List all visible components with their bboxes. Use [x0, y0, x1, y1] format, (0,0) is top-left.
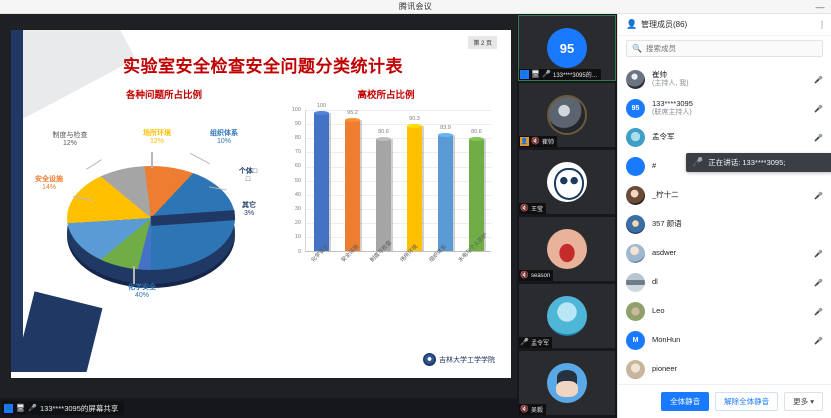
bar-series: 100 95.2 80.6	[306, 109, 492, 251]
video-tile-name: 133****3095的…	[553, 70, 598, 79]
search-row: 🔍	[618, 36, 831, 63]
mic-muted-icon: 🔇	[520, 271, 529, 280]
video-tile-infobar: 🔇 吴毅	[519, 404, 546, 415]
list-item[interactable]: 357 颜语	[618, 210, 831, 239]
member-name: 357 颜语	[652, 220, 682, 229]
screen-share-icon: 🖥	[16, 404, 25, 413]
avatar	[626, 302, 645, 321]
member-name: _柠十二	[652, 191, 679, 200]
member-icons: 🎤	[814, 76, 823, 84]
avatar	[626, 186, 645, 205]
member-name: pioneer	[652, 365, 677, 374]
window-titlebar: 腾讯会议 —	[0, 0, 831, 14]
pie-leader-1	[151, 152, 153, 168]
bar-rect	[376, 139, 391, 251]
mic-muted-icon: 🔇	[531, 137, 540, 146]
bar-rect	[438, 135, 453, 251]
mic-muted-icon: 🔇	[520, 405, 529, 414]
avatar	[547, 363, 587, 403]
mic-icon[interactable]: 🎤	[814, 134, 823, 142]
y-tick: 40	[295, 192, 301, 198]
bar-chart-x-axis: 化学安全 安全设施 制度与检查 场所环境 组织体系 水电与个人防护	[305, 254, 505, 314]
unmute-all-button[interactable]: 解除全体静音	[715, 392, 778, 411]
mic-icon: 🎤	[542, 70, 551, 79]
avatar	[547, 95, 587, 135]
pie-label-huaxueanquan: 化学安全 40%	[107, 284, 177, 300]
tencent-meeting-window: 腾讯会议 — 第 2 页 实验室安全检查安全问题分类统计表 各种问题所占比例 高…	[0, 0, 831, 418]
pie-chart: 场所环境 12% 组织体系 10% 个体□□ 其它 3% 制度与检查 12%	[33, 106, 283, 368]
person-icon: 👤	[4, 404, 13, 413]
mic-icon[interactable]: 🎤	[814, 105, 823, 113]
member-name: 133****3095	[652, 100, 693, 109]
mic-icon[interactable]: 🎤	[814, 279, 823, 287]
member-list[interactable]: 崔帅 (主持人, 我) 🎤 95 133****3095 (联席主持人) 🎤	[618, 63, 831, 384]
screen-share-chip: 👤 🖥 🎤 133****3095的屏幕共享	[2, 401, 124, 415]
list-item[interactable]: _柠十二 🎤	[618, 181, 831, 210]
y-tick: 80	[295, 135, 301, 141]
pie-leader-2	[190, 153, 210, 164]
slide-title: 实验室安全检查安全问题分类统计表	[63, 52, 463, 77]
y-tick: 10	[295, 234, 301, 240]
mic-icon[interactable]: 🎤	[814, 337, 823, 345]
mic-icon[interactable]: 🎤	[814, 192, 823, 200]
collapse-panel-button[interactable]: ]	[821, 20, 823, 29]
search-member-box[interactable]: 🔍	[626, 40, 823, 57]
university-name: 吉林大学工学学院	[439, 355, 495, 365]
video-tile-infobar: 👤 🔇 崔帅	[519, 136, 557, 147]
bar-rect	[345, 120, 360, 251]
minimize-button[interactable]: —	[813, 1, 827, 13]
member-name: 崔帅	[652, 71, 689, 80]
mic-muted-icon: 🎤	[692, 157, 703, 168]
bar-value-label: 95.2	[347, 110, 358, 116]
bar-chart-plot: 100 95.2 80.6	[305, 110, 491, 252]
pie-chart-title: 各种问题所占比例	[69, 87, 259, 101]
member-name: asdwer	[652, 249, 676, 258]
video-tile-infobar: 🔇 season	[519, 270, 553, 281]
bar-rect	[314, 113, 329, 251]
pie-label-qita: 其它 3%	[229, 202, 269, 218]
avatar	[626, 273, 645, 292]
bar-rect	[407, 126, 422, 251]
video-tile-participant[interactable]: 🔇 吴毅	[519, 351, 615, 415]
y-tick: 0	[298, 249, 301, 255]
video-tile-name: 吴毅	[531, 405, 543, 414]
avatar	[547, 162, 587, 202]
video-tile-participant[interactable]: 🎤 孟令军	[519, 284, 615, 348]
list-item[interactable]: asdwer 🎤	[618, 239, 831, 268]
video-tile-infobar: 🎤 孟令军	[519, 337, 552, 348]
slide-footer-logo: 吉林大学工学学院	[423, 353, 495, 366]
mic-icon: 🎤	[28, 404, 37, 413]
participants-panel-title: 管理成员(86)	[641, 19, 687, 30]
slide-canvas: 第 2 页 实验室安全检查安全问题分类统计表 各种问题所占比例 高校所占比例 场…	[11, 30, 511, 378]
y-tick: 50	[295, 178, 301, 184]
y-tick: 60	[295, 163, 301, 169]
pie-label-zhiduyujiancha: 制度与检查 12%	[47, 132, 93, 148]
search-icon: 🔍	[632, 44, 642, 53]
slide-page-badge: 第 2 页	[468, 36, 497, 49]
member-name: 孟令军	[652, 133, 675, 142]
member-icons: 🎤	[814, 308, 823, 316]
speaking-tooltip-text: 正在讲话: 133****3095;	[708, 157, 785, 168]
avatar	[626, 244, 645, 263]
window-controls: —	[813, 0, 827, 14]
slide-decoration-bottom	[11, 372, 511, 378]
pie-leader-6	[133, 266, 135, 284]
search-input[interactable]	[646, 44, 817, 53]
shared-slide: 第 2 页 实验室安全检查安全问题分类统计表 各种问题所占比例 高校所占比例 场…	[11, 30, 511, 378]
participants-panel: 👤 管理成员(86) ] 🔍 崔帅 (主持人, 我) 🎤	[617, 14, 831, 418]
pie-body	[67, 166, 235, 270]
avatar	[626, 70, 645, 89]
video-tile-host[interactable]: 👤 🔇 崔帅	[519, 83, 615, 147]
member-role: (主持人, 我)	[652, 80, 689, 88]
member-name: dl	[652, 278, 658, 287]
list-item[interactable]: Leo 🎤	[618, 297, 831, 326]
bar-value-label: 80.6	[471, 129, 482, 135]
list-item[interactable]: dl 🎤	[618, 268, 831, 297]
bar-item: 95.2	[344, 109, 362, 251]
screen-share-icon: 🖥	[531, 70, 540, 79]
bar-item: 90.3	[406, 109, 424, 251]
person-icon: 👤	[520, 70, 529, 79]
pie-label-anquansheshi: 安全设施 14%	[21, 176, 77, 192]
bar-value-label: 90.3	[409, 116, 420, 122]
member-role: (联席主持人)	[652, 109, 693, 117]
mic-icon: 🎤	[520, 338, 529, 347]
more-button[interactable]: 更多 ▾	[784, 392, 823, 411]
member-name: Leo	[652, 307, 665, 316]
pie-label-changsuohuanjing: 场所环境 12%	[129, 130, 185, 146]
video-tile-name: 王莹	[531, 204, 543, 213]
y-tick: 90	[295, 121, 301, 127]
bar-item: 100	[313, 109, 331, 251]
video-tile-participant[interactable]: 🔇 season	[519, 217, 615, 281]
mic-icon[interactable]: 🎤	[814, 250, 823, 258]
bar-chart-title: 高校所占比例	[301, 87, 471, 101]
list-item[interactable]: pioneer	[618, 355, 831, 384]
avatar	[626, 215, 645, 234]
host-icon: 👤	[520, 137, 529, 146]
member-icons: 🎤	[814, 134, 823, 142]
y-tick: 30	[295, 206, 301, 212]
speaking-tooltip: 🎤 正在讲话: 133****3095;	[686, 153, 831, 172]
member-icons: 🎤	[814, 279, 823, 287]
bar-value-label: 83.9	[440, 125, 451, 131]
member-icons: 🎤	[814, 105, 823, 113]
screen-share-status-text: 133****3095的屏幕共享	[40, 403, 118, 414]
avatar: M	[626, 331, 645, 350]
video-tile-participant[interactable]: 🔇 王莹	[519, 150, 615, 214]
member-icons: 🎤	[814, 250, 823, 258]
bar-item: 83.9	[437, 109, 455, 251]
bar-value-label: 100	[317, 103, 326, 109]
video-tile-name: season	[531, 273, 550, 279]
pie-label-getifanghu: 个体□□	[225, 168, 271, 184]
mic-icon[interactable]: 🎤	[814, 76, 823, 84]
pie-label-zuzhitixi: 组织体系 10%	[195, 130, 253, 146]
video-tile-infobar: 🔇 王莹	[519, 203, 546, 214]
y-tick: 100	[292, 107, 301, 113]
university-seal-icon	[423, 353, 436, 366]
bar-chart-y-axis: 100 90 80 70 60 50 40 30 20 10 0	[279, 104, 303, 254]
slide-decoration-left-bar	[11, 30, 23, 378]
avatar	[547, 229, 587, 269]
member-name: MonHun	[652, 336, 680, 345]
bar-chart: 100 90 80 70 60 50 40 30 20 10 0	[279, 104, 497, 364]
participants-panel-header: 👤 管理成员(86) ]	[618, 14, 831, 36]
list-item[interactable]: 崔帅 (主持人, 我) 🎤	[618, 65, 831, 94]
y-tick: 20	[295, 220, 301, 226]
y-tick: 70	[295, 149, 301, 155]
list-item[interactable]: 孟令军 🎤	[618, 123, 831, 152]
member-name: #	[652, 162, 656, 171]
video-tile-sharer[interactable]: 95 👤 🖥 🎤 133****3095的…	[519, 16, 615, 80]
person-icon: 👤	[626, 20, 636, 30]
mute-all-button[interactable]: 全体静音	[661, 392, 709, 411]
window-title: 腾讯会议	[399, 1, 432, 12]
member-icons: 🎤	[814, 192, 823, 200]
avatar	[626, 128, 645, 147]
list-item[interactable]: M MonHun 🎤	[618, 326, 831, 355]
participants-panel-footer: 全体静音 解除全体静音 更多 ▾	[618, 384, 831, 418]
bar-value-label: 80.6	[378, 129, 389, 135]
video-tile-name: 崔帅	[542, 137, 554, 146]
avatar	[626, 157, 645, 176]
video-tile-infobar: 👤 🖥 🎤 133****3095的…	[519, 69, 601, 80]
list-item[interactable]: 95 133****3095 (联席主持人) 🎤	[618, 94, 831, 123]
mic-icon[interactable]: 🎤	[814, 308, 823, 316]
avatar: 95	[547, 28, 587, 68]
avatar	[626, 360, 645, 379]
bar-item: 80.6	[375, 109, 393, 251]
avatar	[547, 296, 587, 336]
video-filmstrip[interactable]: 95 👤 🖥 🎤 133****3095的… 👤 🔇 崔帅 🔇 王莹	[517, 14, 617, 418]
mic-muted-icon: 🔇	[520, 204, 529, 213]
avatar: 95	[626, 99, 645, 118]
video-tile-name: 孟令军	[531, 338, 549, 347]
member-icons: 🎤	[814, 337, 823, 345]
